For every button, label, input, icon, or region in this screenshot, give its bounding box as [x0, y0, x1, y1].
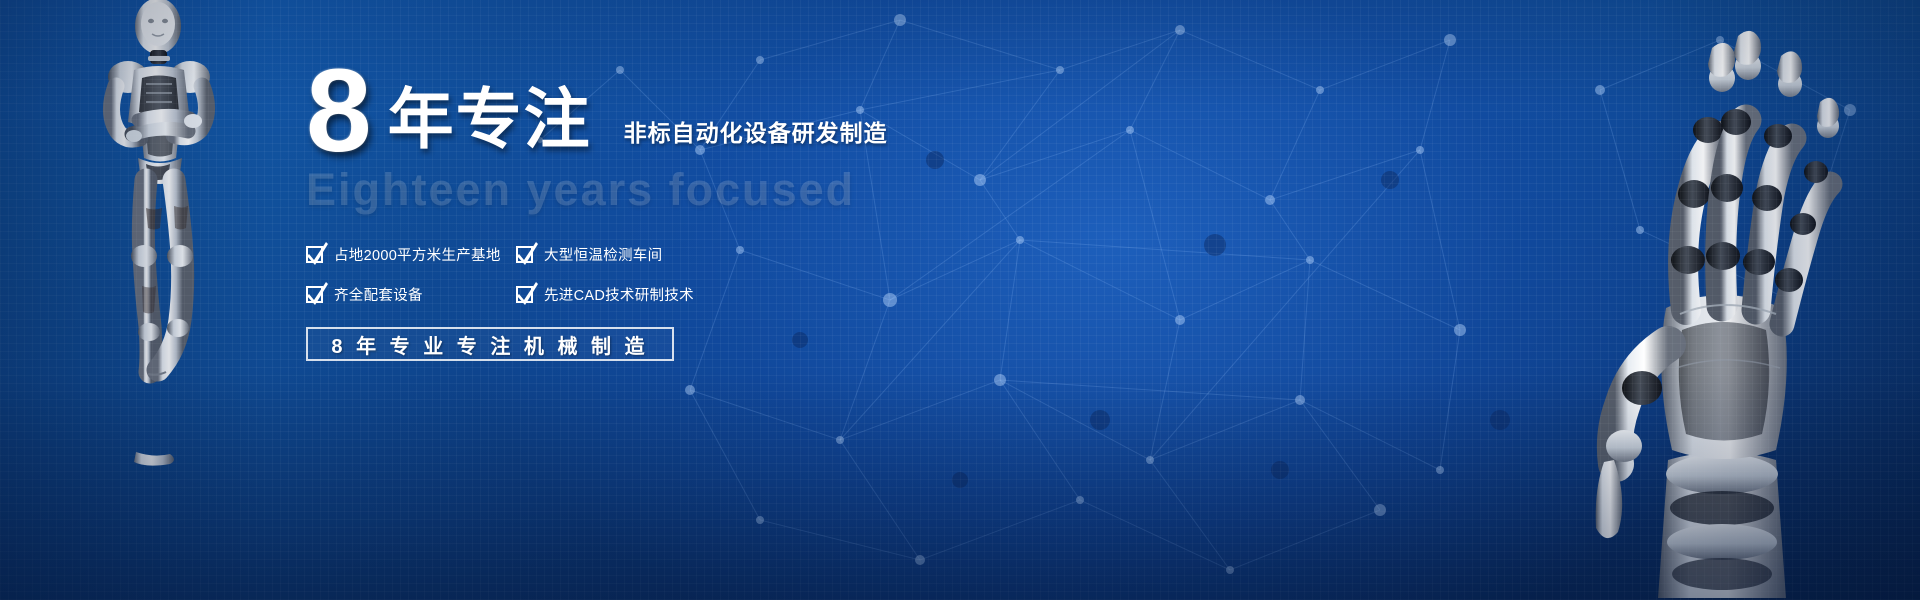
feature-item: 先进CAD技术研制技术 — [516, 284, 726, 305]
checkbox-checked-icon — [516, 286, 533, 303]
banner-content: 8 年专注 非标自动化设备研发制造 Eighteen years focused… — [306, 62, 1126, 361]
humanoid-robot-image — [62, 0, 272, 494]
feature-label: 先进CAD技术研制技术 — [544, 284, 694, 305]
ghost-tagline: Eighteen years focused — [306, 164, 1126, 216]
cta-banner[interactable]: 8 年 专 业 专 注 机 械 制 造 — [306, 327, 674, 361]
checkbox-checked-icon — [516, 246, 533, 263]
cta-label: 8 年 专 业 专 注 机 械 制 造 — [331, 330, 648, 359]
headline-subtitle: 非标自动化设备研发制造 — [624, 114, 888, 158]
headline-number: 8 — [306, 61, 370, 162]
feature-label: 齐全配套设备 — [334, 284, 423, 305]
feature-item: 大型恒温检测车间 — [516, 244, 726, 265]
headline-row: 8 年专注 非标自动化设备研发制造 — [306, 62, 1126, 158]
feature-item: 占地2000平方米生产基地 — [306, 244, 516, 265]
headline-chinese: 年专注 — [388, 86, 592, 152]
feature-label: 占地2000平方米生产基地 — [334, 244, 501, 265]
feature-label: 大型恒温检测车间 — [544, 244, 662, 265]
feature-item: 齐全配套设备 — [306, 284, 516, 305]
checkbox-checked-icon — [306, 246, 323, 263]
hero-banner: 8 年专注 非标自动化设备研发制造 Eighteen years focused… — [0, 0, 1920, 600]
checkbox-checked-icon — [306, 286, 323, 303]
feature-list: 占地2000平方米生产基地 大型恒温检测车间 齐全配 — [306, 244, 1126, 305]
robotic-hand-image — [1560, 8, 1890, 598]
